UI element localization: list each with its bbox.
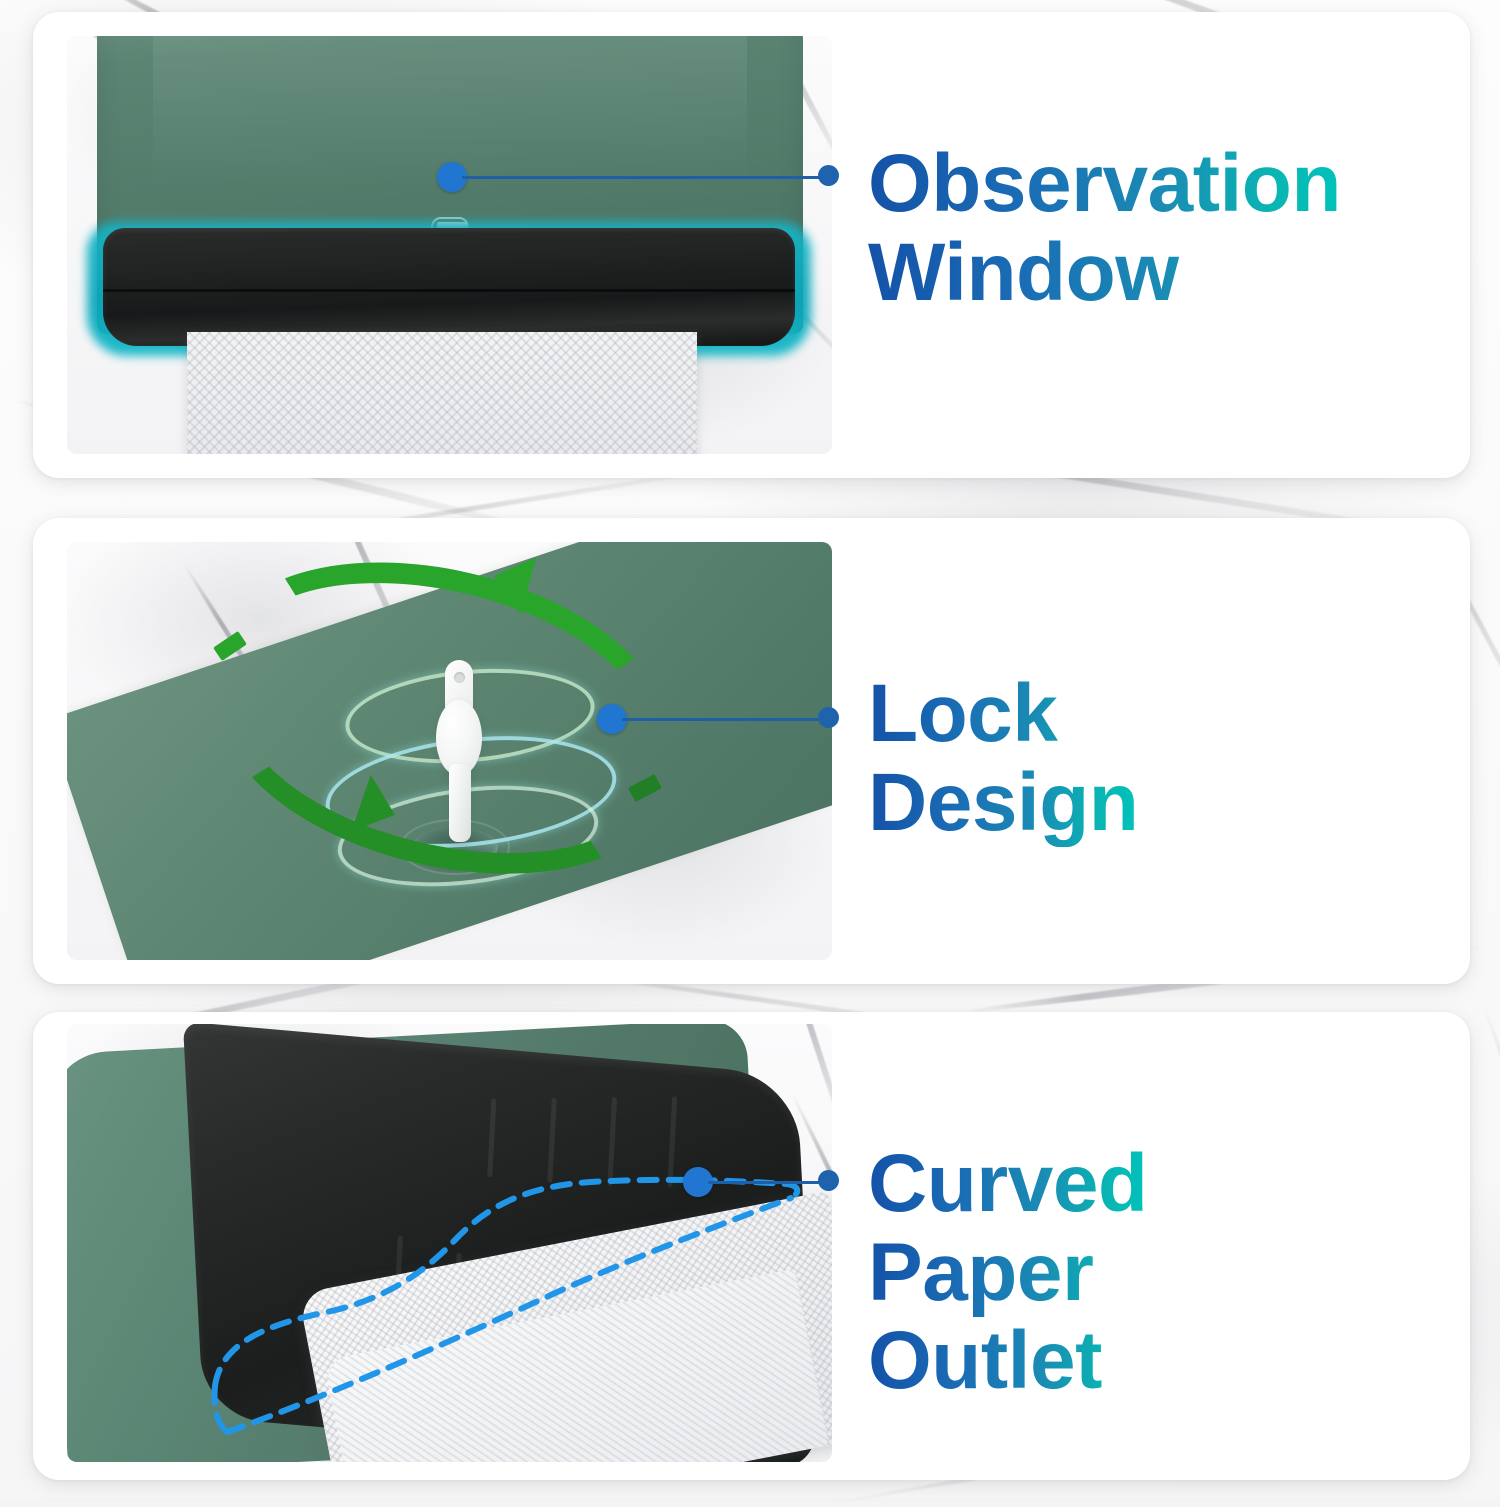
- callout-leader-line: [622, 718, 824, 721]
- feature-card-lock-design: [33, 518, 1470, 984]
- product-photo-curved-paper-outlet: MI: [67, 1024, 832, 1462]
- observation-window: [103, 228, 795, 346]
- callout-leader-line: [708, 1181, 824, 1184]
- rotation-arrow-lower: [217, 628, 669, 866]
- callout-tip-dot: [818, 165, 839, 186]
- product-photo-lock-design: [67, 542, 832, 960]
- paper-towel-sheet: [187, 332, 697, 454]
- feature-label-lock-design: Lock Design: [868, 670, 1138, 847]
- feature-label-observation-window: Observation Window: [868, 140, 1341, 317]
- feature-card-curved-paper-outlet: MI: [33, 1012, 1470, 1480]
- feature-label-curved-paper-outlet: Curved Paper Outlet: [868, 1140, 1148, 1406]
- callout-tip-dot: [818, 707, 839, 728]
- callout-leader-line: [462, 176, 824, 179]
- callout-tip-dot: [818, 1170, 839, 1191]
- product-photo-observation-window: [67, 36, 832, 454]
